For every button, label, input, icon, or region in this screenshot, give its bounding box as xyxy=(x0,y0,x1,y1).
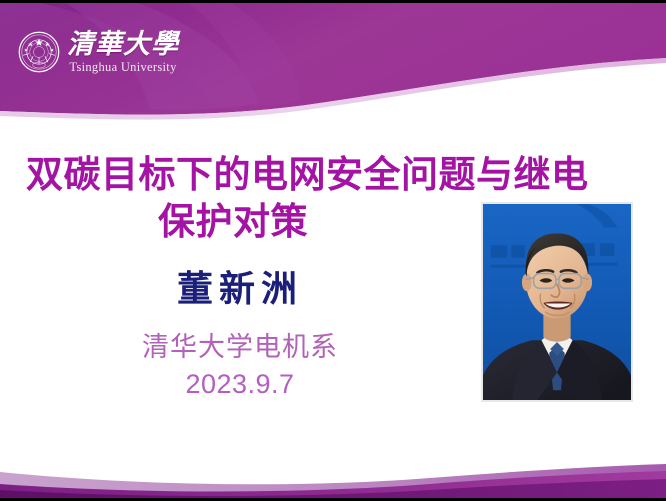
presentation-date: 2023.9.7 xyxy=(30,367,450,401)
title-line-1: 双碳目标下的电网安全问题与继电 xyxy=(26,151,640,198)
presentation-slide: 清華大學 Tsinghua University 双碳目标下的电网安全问题与继电… xyxy=(0,0,666,501)
logo-english-name: Tsinghua University xyxy=(69,61,176,74)
footer-wave-shape xyxy=(0,428,666,498)
bottom-decoration xyxy=(0,428,666,498)
speaker-portrait xyxy=(481,202,633,402)
speaker-portrait-image xyxy=(483,204,631,400)
tsinghua-seal-icon xyxy=(18,31,60,73)
tsinghua-logo: 清華大學 Tsinghua University xyxy=(18,31,179,74)
logo-chinese-name: 清華大學 xyxy=(67,31,179,58)
logo-text-group: 清華大學 Tsinghua University xyxy=(67,31,179,74)
author-affiliation: 清华大学电机系 xyxy=(30,331,450,365)
author-name: 董新洲 xyxy=(30,267,450,311)
